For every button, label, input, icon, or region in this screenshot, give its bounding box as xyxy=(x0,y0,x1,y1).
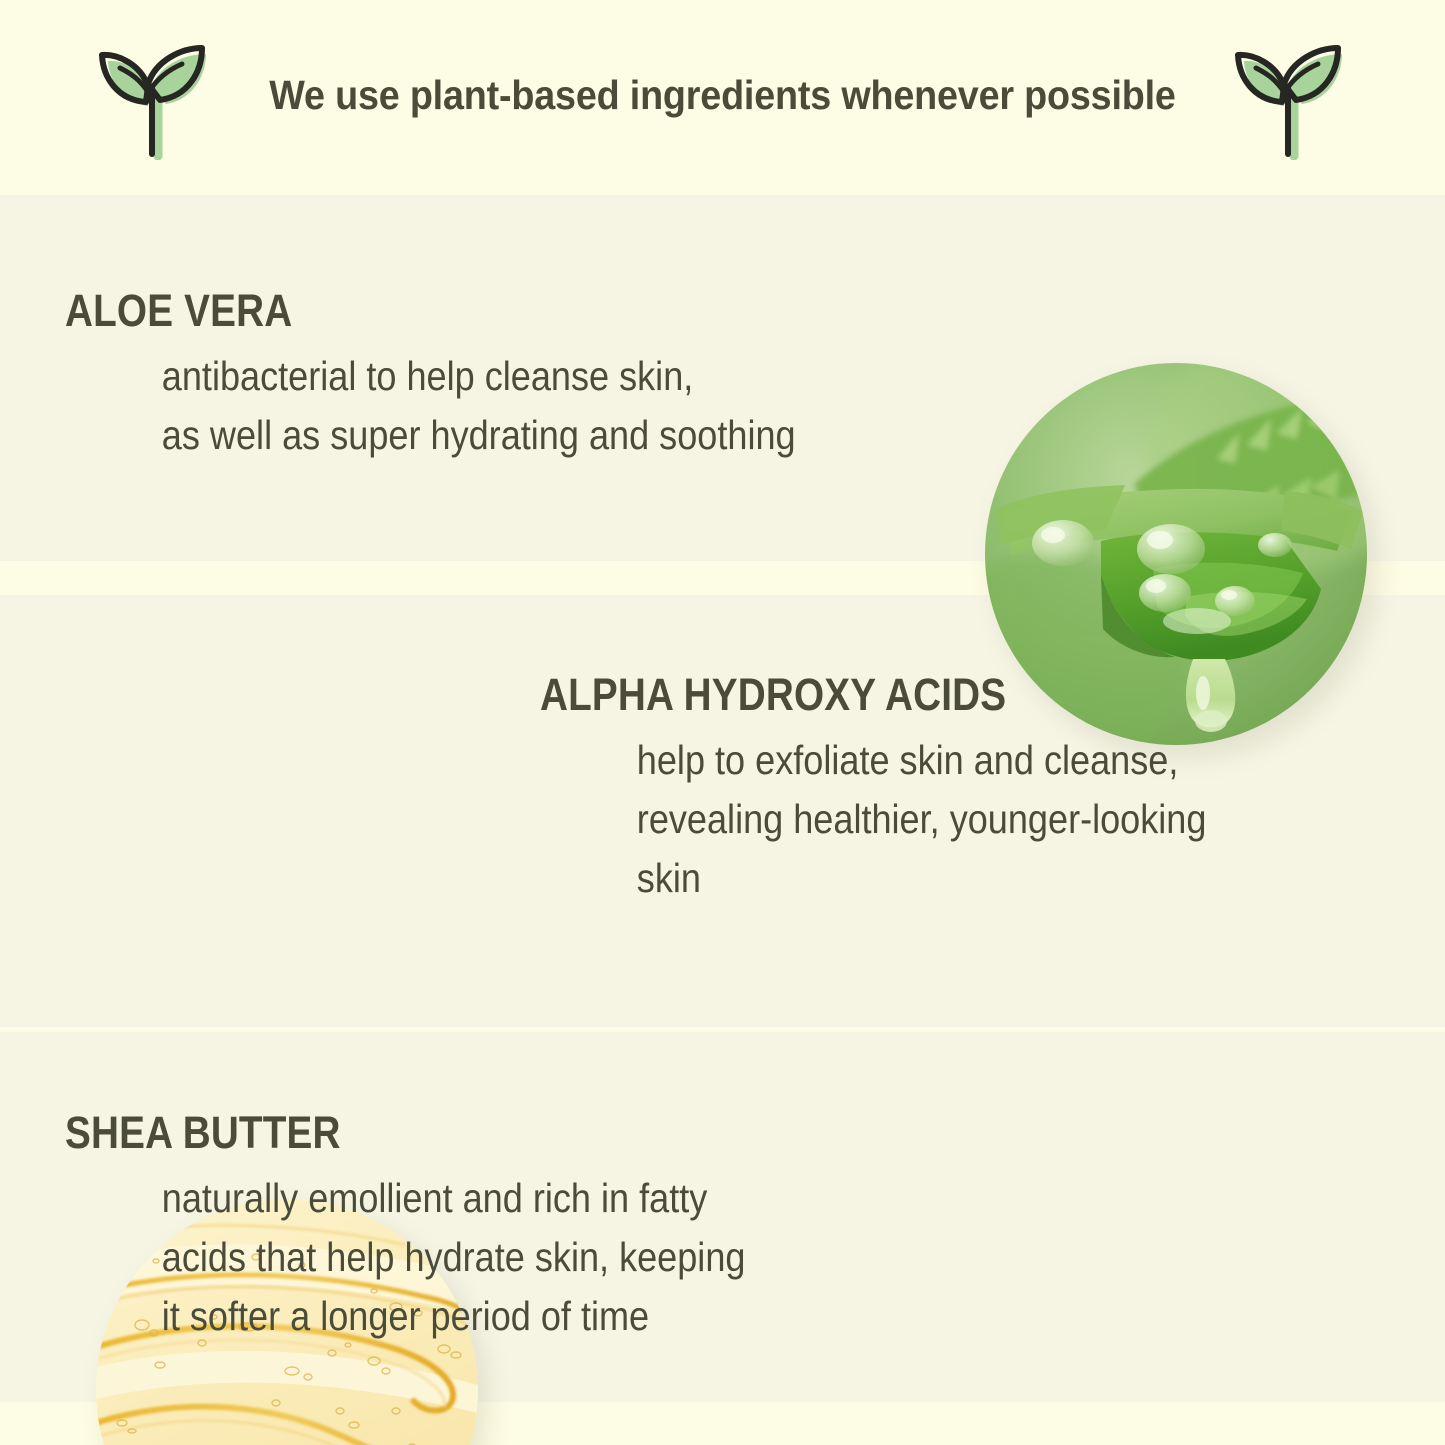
ingredient-title: ALOE VERA xyxy=(65,288,779,333)
ingredient-text-block: SHEA BUTTER naturally emollient and rich… xyxy=(65,1110,838,1346)
description-line: naturally emollient and rich in fatty xyxy=(162,1169,746,1228)
header-title: We use plant-based ingredients whenever … xyxy=(58,72,1387,119)
description-line: acids that help hydrate skin, keeping xyxy=(162,1228,746,1287)
leaf-sprout-icon xyxy=(1222,28,1354,160)
description-line: antibacterial to help cleanse skin, xyxy=(162,347,796,406)
description-line: it softer a longer period of time xyxy=(162,1287,746,1346)
description-line: as well as super hydrating and soothing xyxy=(162,406,796,465)
ingredient-title: SHEA BUTTER xyxy=(65,1110,730,1155)
ingredient-section-shea-butter: SHEA BUTTER naturally emollient and rich… xyxy=(0,1032,1445,1402)
infographic-page: We use plant-based ingredients whenever … xyxy=(0,0,1445,1445)
ingredient-text-block: ALOE VERA antibacterial to help cleanse … xyxy=(65,288,895,465)
description-line: revealing healthier, younger-looking xyxy=(637,790,1207,849)
ingredient-text-block: ALPHA HYDROXY ACIDS help to exfoliate sk… xyxy=(540,672,1297,908)
ingredient-section-alpha-hydroxy-acids: ALPHA HYDROXY ACIDS help to exfoliate sk… xyxy=(0,595,1445,1027)
ingredient-title: ALPHA HYDROXY ACIDS xyxy=(540,672,1191,717)
description-line: skin xyxy=(637,849,1207,908)
header: We use plant-based ingredients whenever … xyxy=(0,0,1445,195)
ingredient-description: naturally emollient and rich in fatty ac… xyxy=(65,1169,745,1346)
ingredient-section-aloe-vera: ALOE VERA antibacterial to help cleanse … xyxy=(0,195,1445,561)
ingredient-description: help to exfoliate skin and cleanse, reve… xyxy=(540,731,1206,908)
ingredient-description: antibacterial to help cleanse skin, as w… xyxy=(65,347,796,465)
description-line: help to exfoliate skin and cleanse, xyxy=(637,731,1207,790)
